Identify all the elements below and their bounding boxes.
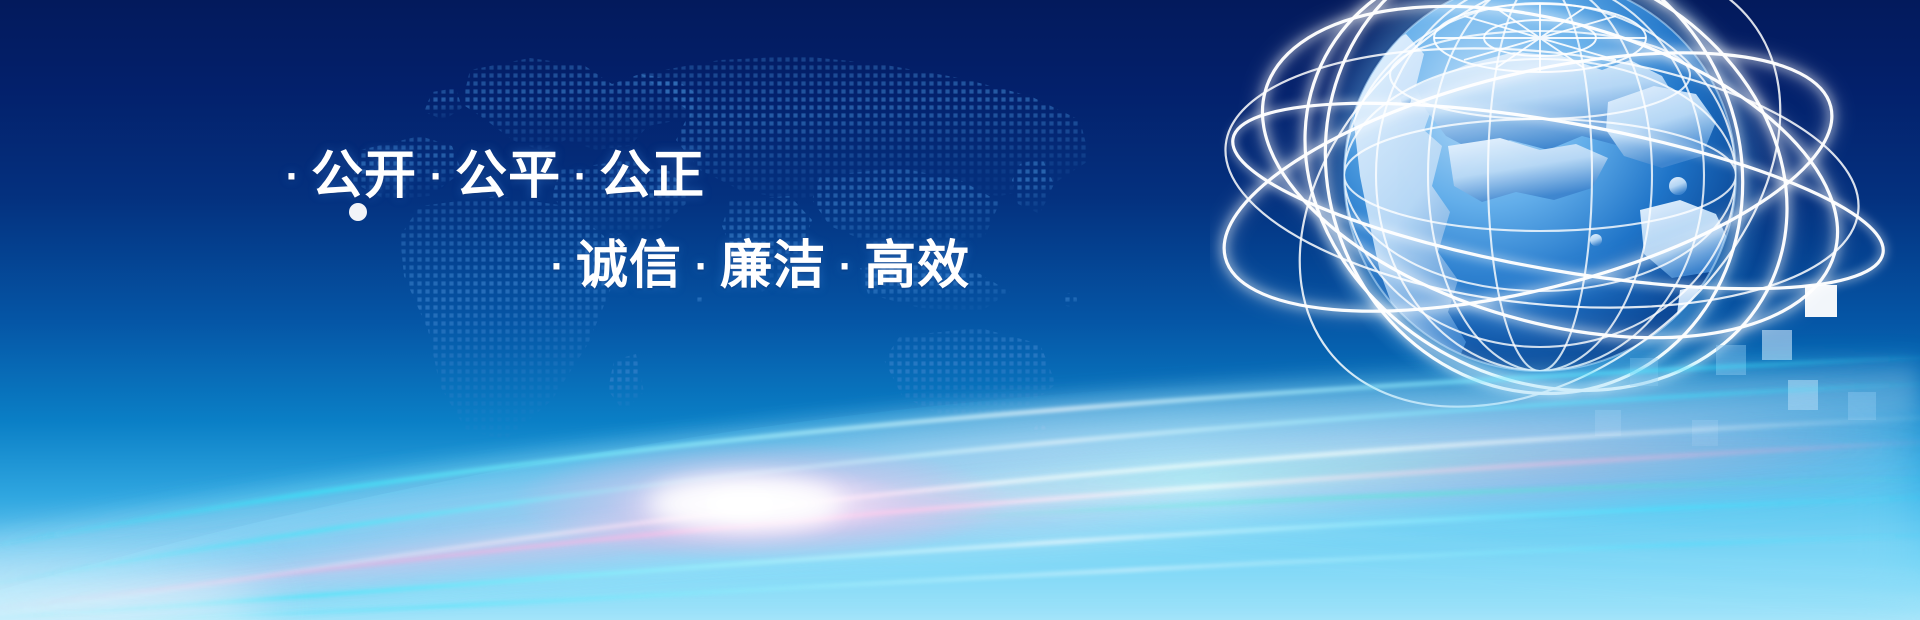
light-streak-wave (0, 290, 1920, 620)
banner-root: ·公开·公平·公正 ·诚信·廉洁·高效 (0, 0, 1920, 620)
map-highlight-dot (349, 203, 367, 221)
